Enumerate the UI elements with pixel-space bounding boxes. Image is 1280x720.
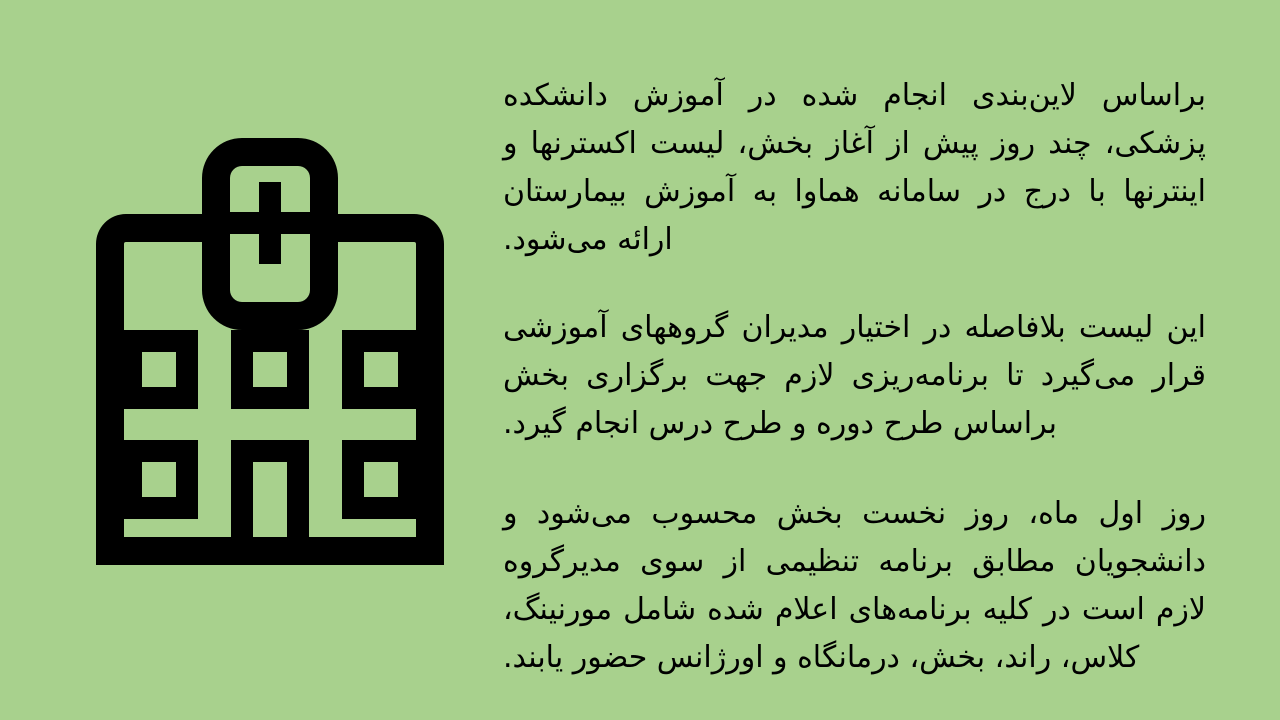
paragraph-3: روز اول ماه، روز نخست بخش محسوب می‌شود و… [503, 490, 1206, 682]
paragraph-2: این لیست بلافاصله در اختیار مدیران گروهه… [503, 304, 1206, 448]
slide-canvas: براساس لاین‌بندی انجام شده در آموزش دانش… [0, 0, 1280, 720]
hospital-building-icon [80, 120, 460, 600]
body-text-column: براساس لاین‌بندی انجام شده در آموزش دانش… [503, 72, 1206, 682]
paragraph-1: براساس لاین‌بندی انجام شده در آموزش دانش… [503, 72, 1206, 264]
